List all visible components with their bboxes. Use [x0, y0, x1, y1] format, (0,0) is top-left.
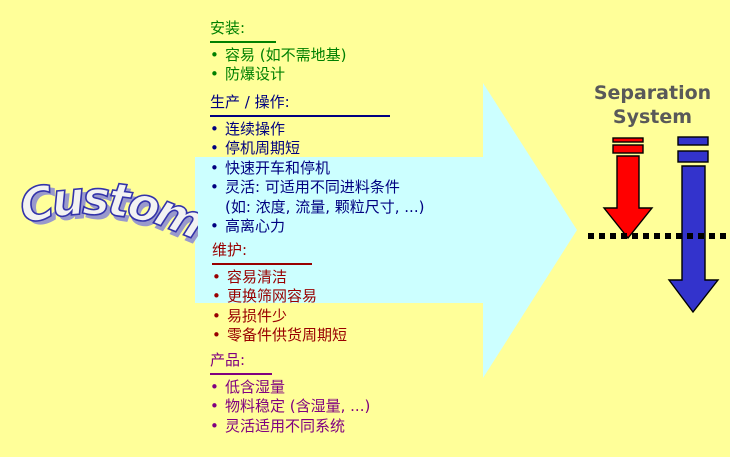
section-product-underline: [210, 373, 272, 375]
bullet-icon: •: [210, 217, 225, 237]
product-bar-top: [678, 137, 708, 145]
separation-system-title-line1: Separation: [575, 82, 730, 106]
section-maintenance: 维护: •容易清洁 •更换筛网容易 •易损件少 •零备件供货周期短: [212, 240, 347, 346]
separation-system-title: Separation System: [575, 82, 730, 130]
bullet-icon: •: [210, 120, 225, 140]
list-item: •防爆设计: [210, 65, 346, 85]
list-item: •快速开车和停机: [210, 159, 424, 179]
product-bar-lower: [678, 151, 708, 162]
section-operation: 生产 / 操作: •连续操作 •停机周期短 •快速开车和停机 •灵活: 可适用不…: [210, 92, 424, 237]
list-item-continuation: (如: 浓度, 流量, 颗粒尺寸, ...): [210, 198, 424, 218]
customer-wordart: Customer Customer: [8, 160, 198, 260]
bullet-icon: •: [210, 159, 225, 179]
section-install: 安装: •容易 (如不需地基) •防爆设计: [210, 18, 346, 85]
bullet-icon: •: [210, 397, 225, 417]
slide-canvas: Customer Customer 安装: •容易 (如不需地基) •防爆设计 …: [0, 0, 730, 457]
separation-system-title-line2: System: [575, 106, 730, 130]
feed-bar-lower: [613, 145, 643, 153]
bullet-icon: •: [210, 178, 225, 198]
list-item: •停机周期短: [210, 139, 424, 159]
bullet-icon: •: [210, 417, 225, 437]
down-arrow-icon-feed: [604, 156, 652, 238]
customer-wordart-label: Customer: [8, 160, 198, 250]
list-item: •易损件少: [212, 307, 347, 327]
list-item: •高离心力: [210, 217, 424, 237]
list-item: •容易 (如不需地基): [210, 46, 346, 66]
bullet-icon: •: [210, 46, 225, 66]
list-item: •低含湿量: [210, 378, 370, 398]
section-operation-underline: [210, 115, 390, 117]
bullet-icon: •: [210, 139, 225, 159]
bullet-icon: •: [212, 307, 227, 327]
feed-bar-top: [613, 138, 643, 142]
bullet-icon: •: [212, 287, 227, 307]
list-item: •物料稳定 (含湿量, ...): [210, 397, 370, 417]
section-maintenance-heading: 维护:: [212, 241, 247, 262]
section-install-underline: [210, 41, 276, 43]
section-product-heading: 产品:: [210, 351, 245, 372]
separation-system-graphic: [575, 130, 730, 320]
bullet-icon: •: [212, 268, 227, 288]
list-item: •零备件供货周期短: [212, 326, 347, 346]
bullet-icon: •: [210, 65, 225, 85]
section-product: 产品: •低含湿量 •物料稳定 (含湿量, ...) •灵活适用不同系统: [210, 350, 370, 436]
list-item: •灵活: 可适用不同进料条件: [210, 178, 424, 198]
list-item: •灵活适用不同系统: [210, 417, 370, 437]
section-install-heading: 安装:: [210, 19, 245, 40]
list-item: •容易清洁: [212, 268, 347, 288]
list-item: •更换筛网容易: [212, 287, 347, 307]
bullet-icon: •: [212, 326, 227, 346]
section-operation-heading: 生产 / 操作:: [210, 93, 290, 114]
bullet-icon: •: [210, 378, 225, 398]
section-maintenance-underline: [212, 263, 312, 265]
list-item: •连续操作: [210, 120, 424, 140]
